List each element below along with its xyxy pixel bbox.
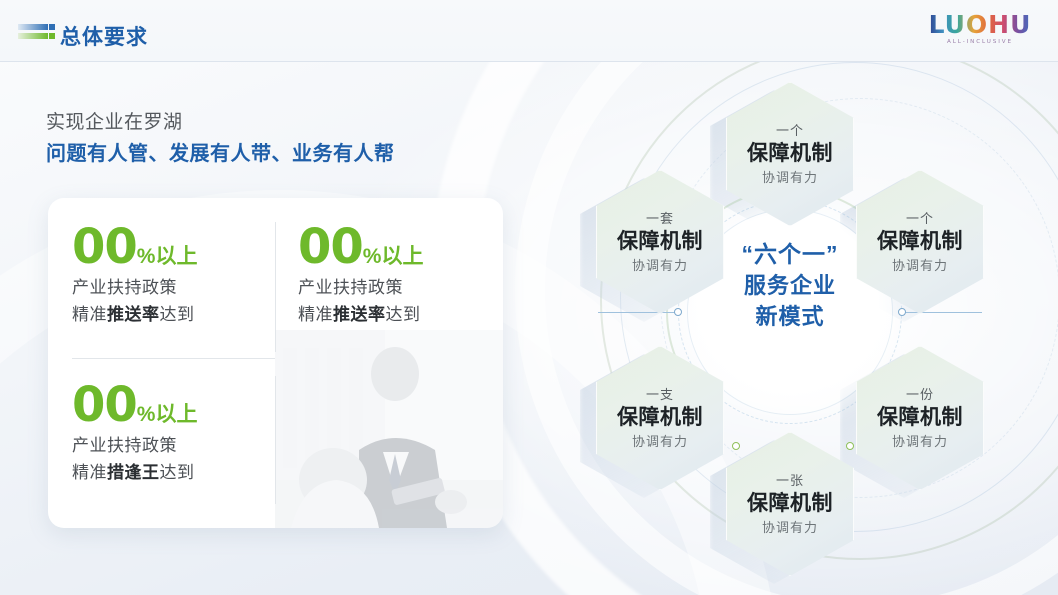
hexagon-prefix: 一个 [776,122,804,140]
hexagon-title: 保障机制 [877,228,963,256]
stat-line2-suffix: 达到 [160,305,195,324]
connector-line-right [902,312,982,313]
hexagon-title: 保障机制 [617,404,703,432]
stat-value-group: 00%以上 [72,220,272,274]
stat-description-line2: 精准推送率达到 [298,301,498,328]
center-label: “六个一” 服务企业 新模式 [698,238,882,332]
hexagon-title: 保障机制 [877,404,963,432]
card-divider-horizontal [72,358,275,359]
hexagon-subtitle: 协调有力 [762,518,818,537]
hexagon-prefix: 一份 [906,386,934,404]
stat-line2-bold: 推送率 [107,305,160,324]
stat-unit: %以上 [363,240,424,270]
hexagon-prefix: 一个 [906,210,934,228]
headline-main-line: 问题有人管、发展有人带、业务有人帮 [46,138,395,170]
stat-value-group: 00%以上 [72,378,272,432]
stat-number: 00 [72,220,137,274]
hexagon-prefix: 一支 [646,386,674,404]
hexagon-title: 保障机制 [747,140,833,168]
hexagon-prefix: 一套 [646,210,674,228]
stat-line2-suffix: 达到 [160,463,195,482]
hexagon-title: 保障机制 [747,490,833,518]
stat-item-1: 00%以上 产业扶持政策 精准推送率达到 [72,220,272,328]
hexagon-subtitle: 协调有力 [632,256,688,275]
stat-number: 00 [298,220,363,274]
hexagon-subtitle: 协调有力 [892,432,948,451]
connector-node-left [674,308,682,316]
slide-header: 总体要求 LUOHU ALL-INCLUSIVE [0,0,1058,62]
stat-number: 00 [72,378,137,432]
stats-card: 00%以上 产业扶持政策 精准推送率达到 00%以上 产业扶持政策 精准推送率达… [48,198,503,528]
stat-description-line2: 精准推送率达到 [72,301,272,328]
connector-line-left [598,312,678,313]
logo-tagline: ALL-INCLUSIVE [928,38,1032,47]
hexagon-diagram: “六个一” 服务企业 新模式 一个 保障机制 协调有力 一套 保障机制 协调有力… [540,62,1040,562]
stat-item-3: 00%以上 产业扶持政策 精准措逢王达到 [72,378,272,486]
stat-line2-prefix: 精准 [72,305,107,324]
stat-value-group: 00%以上 [298,220,498,274]
hexagon-prefix: 一张 [776,472,804,490]
slide-root: 总体要求 LUOHU ALL-INCLUSIVE 实现企业在罗湖 问题有人管、发… [0,0,1058,595]
connector-node-right [898,308,906,316]
connector-node-green-4 [846,442,854,450]
stat-description-line1: 产业扶持政策 [298,274,498,301]
center-label-line2: 服务企业 [698,270,882,301]
stat-unit: %以上 [137,398,198,428]
hexagon-subtitle: 协调有力 [632,432,688,451]
stat-line2-bold: 措逢王 [107,463,160,482]
stat-line2-suffix: 达到 [386,305,421,324]
center-label-line1: “六个一” [698,238,882,270]
connector-node-green-3 [732,442,740,450]
hexagon-title: 保障机制 [617,228,703,256]
card-divider-vertical-top [275,222,276,352]
stat-unit: %以上 [137,240,198,270]
headline-top-line: 实现企业在罗湖 [46,108,395,138]
hexagon-subtitle: 协调有力 [892,256,948,275]
stat-line2-prefix: 精准 [72,463,107,482]
stat-line2-prefix: 精准 [298,305,333,324]
card-divider-vertical-bottom [275,376,276,504]
gradient-arrow-icon [18,22,58,44]
headline-block: 实现企业在罗湖 问题有人管、发展有人带、业务有人帮 [46,108,395,170]
stat-line2-bold: 推送率 [333,305,386,324]
logo-wordmark: LUOHU [928,12,1032,38]
stat-description-line1: 产业扶持政策 [72,274,272,301]
business-consultation-photo [275,330,503,528]
page-title: 总体要求 [60,21,148,51]
stat-description-line1: 产业扶持政策 [72,432,272,459]
hexagon-subtitle: 协调有力 [762,168,818,187]
center-label-line3: 新模式 [698,301,882,332]
stat-description-line2: 精准措逢王达到 [72,459,272,486]
stat-item-2: 00%以上 产业扶持政策 精准推送率达到 [298,220,498,328]
luohu-logo: LUOHU ALL-INCLUSIVE [928,12,1032,50]
